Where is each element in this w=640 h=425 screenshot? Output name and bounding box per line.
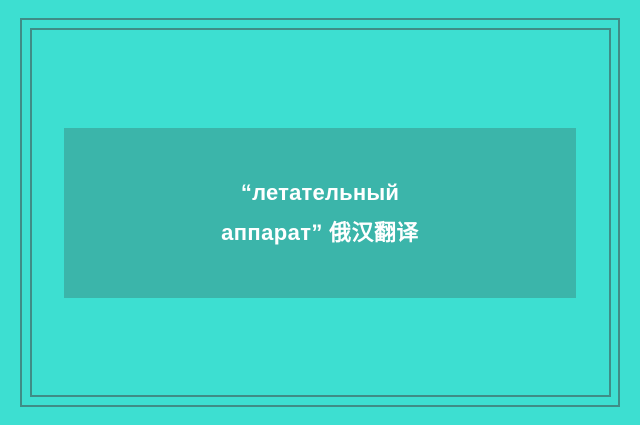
title-line-2: аппарат” 俄汉翻译 xyxy=(221,213,419,253)
image-canvas: “летательный аппарат” 俄汉翻译 xyxy=(0,0,640,425)
title-card: “летательный аппарат” 俄汉翻译 xyxy=(64,128,576,298)
title-line-1: “летательный xyxy=(241,173,399,213)
